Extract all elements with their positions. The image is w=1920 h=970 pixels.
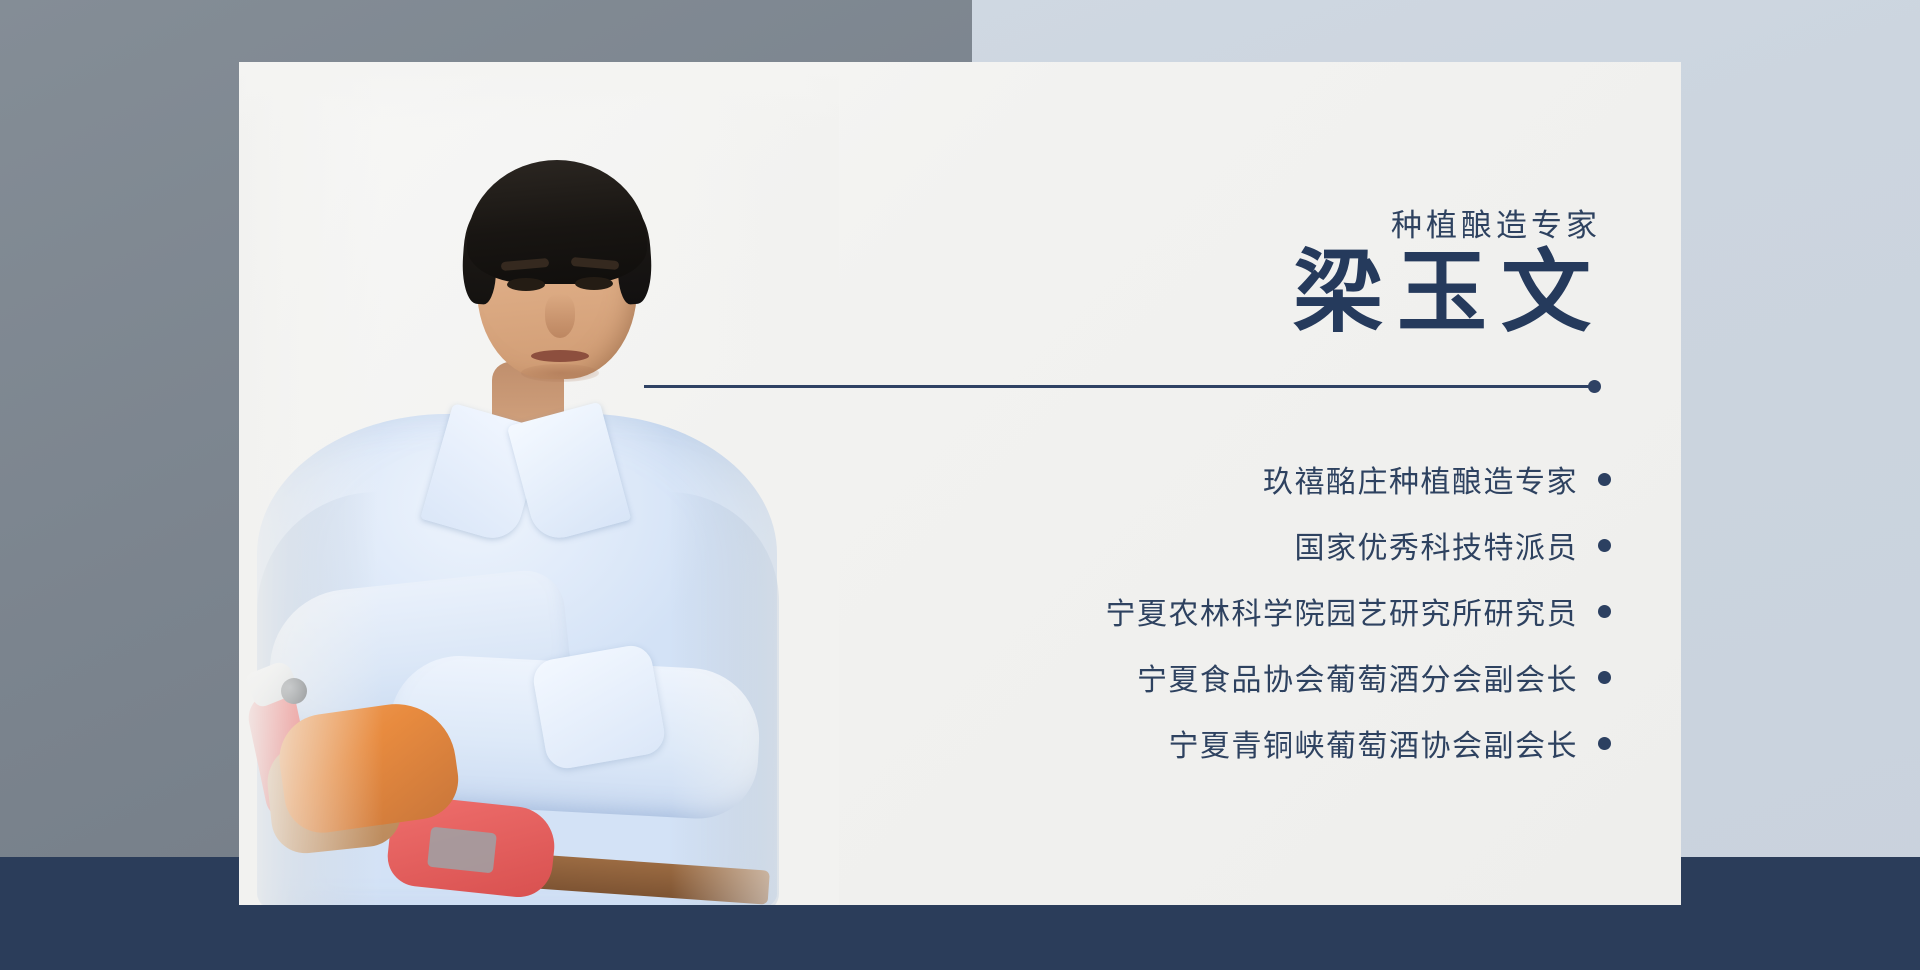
chin-shadow	[521, 364, 599, 382]
credential-text: 国家优秀科技特派员	[1295, 523, 1579, 567]
profile-card: 种植酿造专家 梁玉文 玖禧酩庄种植酿造专家 国家优秀科技特派员 宁夏农林科学院园…	[239, 62, 1681, 905]
bullet-dot-icon	[1598, 671, 1611, 684]
list-item: 宁夏食品协会葡萄酒分会副会长	[1137, 655, 1611, 699]
poster-stage: 种植酿造专家 梁玉文 玖禧酩庄种植酿造专家 国家优秀科技特派员 宁夏农林科学院园…	[0, 0, 1920, 970]
pruning-shears-label	[427, 827, 497, 874]
divider-line	[644, 385, 1597, 388]
shirt-cuff	[530, 642, 667, 771]
list-item: 宁夏农林科学院园艺研究所研究员	[1106, 589, 1612, 633]
credentials-list: 玖禧酩庄种植酿造专家 国家优秀科技特派员 宁夏农林科学院园艺研究所研究员 宁夏食…	[1106, 457, 1612, 765]
list-item: 宁夏青铜峡葡萄酒协会副会长	[1169, 721, 1612, 765]
eye-right	[575, 277, 613, 290]
hair	[467, 160, 647, 284]
bullet-dot-icon	[1598, 539, 1611, 552]
mouth	[531, 350, 589, 362]
divider-end-dot	[1588, 380, 1601, 393]
role-title: 种植酿造专家	[1391, 200, 1601, 245]
nose	[545, 294, 575, 338]
eye-left	[507, 278, 545, 291]
list-item: 国家优秀科技特派员	[1295, 523, 1612, 567]
credential-text: 玖禧酩庄种植酿造专家	[1263, 457, 1578, 501]
bullet-dot-icon	[1598, 737, 1611, 750]
credential-text: 宁夏食品协会葡萄酒分会副会长	[1137, 655, 1578, 699]
credential-text: 宁夏青铜峡葡萄酒协会副会长	[1169, 721, 1579, 765]
pruning-shears-bolt	[281, 678, 307, 704]
expert-name: 梁玉文	[1293, 244, 1605, 343]
bullet-dot-icon	[1598, 605, 1611, 618]
credential-text: 宁夏农林科学院园艺研究所研究员	[1106, 589, 1579, 633]
list-item: 玖禧酩庄种植酿造专家	[1263, 457, 1611, 501]
bullet-dot-icon	[1598, 473, 1611, 486]
portrait-photo	[239, 62, 839, 905]
